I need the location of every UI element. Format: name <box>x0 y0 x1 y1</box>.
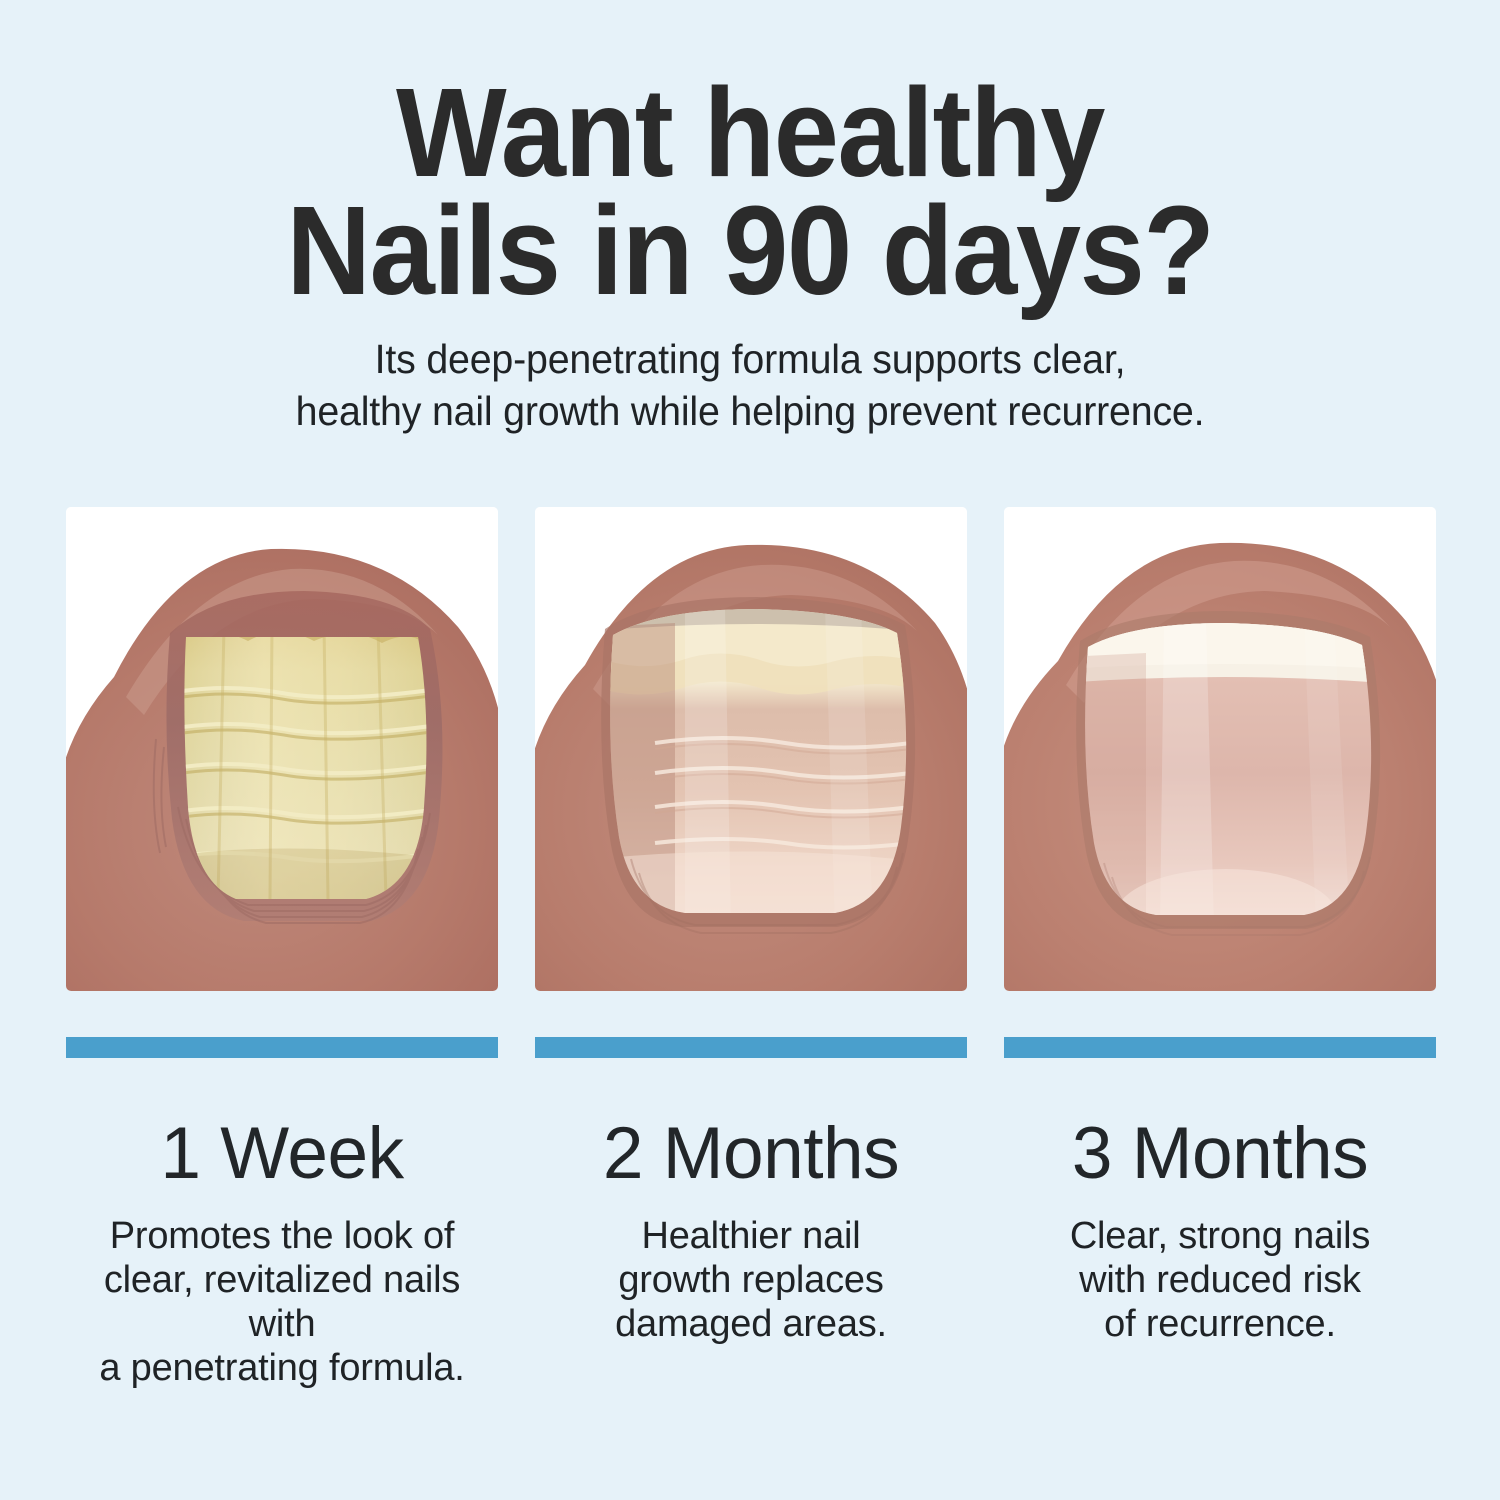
step-card-2: 2 Months Healthier nail growth replaces … <box>535 507 967 1390</box>
step-description-2: Healthier nail growth replaces damaged a… <box>535 1214 967 1346</box>
step-description-3: Clear, strong nails with reduced risk of… <box>1004 1214 1436 1346</box>
accent-bar-3 <box>1004 1037 1436 1058</box>
accent-bar-2 <box>535 1037 967 1058</box>
promo-page: Want healthy Nails in 90 days? Its deep-… <box>0 0 1500 1500</box>
toenail-month-3-icon <box>1004 507 1436 991</box>
step-title-2: 2 Months <box>535 1116 967 1192</box>
step-title-3: 3 Months <box>1004 1116 1436 1192</box>
step-description-1: Promotes the look of clear, revitalized … <box>66 1214 498 1390</box>
toenail-photo-1 <box>66 507 498 991</box>
step-title-1: 1 Week <box>66 1116 498 1192</box>
page-headline: Want healthy Nails in 90 days? <box>53 74 1448 310</box>
accent-bar-1 <box>66 1037 498 1058</box>
progress-steps: 1 Week Promotes the look of clear, revit… <box>66 507 1435 1390</box>
toenail-photo-3 <box>1004 507 1436 991</box>
toenail-month-2-icon <box>535 507 967 991</box>
step-card-3: 3 Months Clear, strong nails with reduce… <box>1004 507 1436 1390</box>
page-subheadline: Its deep-penetrating formula supports cl… <box>30 333 1470 437</box>
toenail-week-1-icon <box>66 507 498 991</box>
step-card-1: 1 Week Promotes the look of clear, revit… <box>66 507 498 1390</box>
toenail-photo-2 <box>535 507 967 991</box>
